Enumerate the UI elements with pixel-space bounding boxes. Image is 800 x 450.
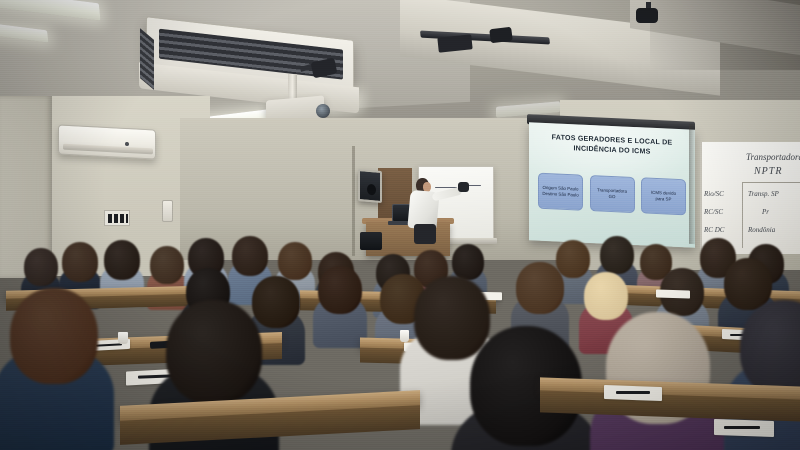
ceiling-corner-shadow [650,0,800,70]
ac-side-grille-icon [140,28,154,90]
slide-box-origem: Origem São Paulo Destino São Paulo [538,173,583,211]
whiteboard-row-3-value: Rondônia [748,226,775,234]
whiteboard-row-1-label: Rio/SC [704,190,724,198]
whiteboard-table-divider [742,182,743,248]
whiteboard-row-1-value: Transp. SP [748,190,779,198]
projection-screen: FATOS GERADORES E LOCAL DE INCIDÊNCIA DO… [529,122,695,248]
slide-box-icms: ICMS devido para SP [641,177,686,215]
monitor [360,232,382,250]
person-head [278,242,312,280]
pen [724,426,760,429]
whiteboard-row-3-label: RC DC [704,226,724,234]
light-switch[interactable] [162,200,173,222]
presenter-legs [414,224,436,244]
person-head [600,236,634,274]
whiteboard-subtitle: NPTR [754,166,782,177]
presenter-hand-with-eraser [458,182,469,192]
person-head [584,272,628,320]
person-head [10,288,98,384]
person-head [318,266,362,314]
person-head [556,240,590,278]
person-head [104,240,140,280]
person-head [166,300,262,404]
wall-corner-edge [352,146,355,256]
classroom-photo: FATOS GERADORES E LOCAL DE INCIDÊNCIA DO… [0,0,800,450]
whiteboard-row-2-value: Pr [762,208,769,216]
person-head [724,258,772,310]
slide-box-3-line-2: para SP [656,196,672,202]
ac-vent-slat-icon [63,144,153,155]
slide-box-1-line-2: Destino São Paulo [542,191,578,198]
track-light-head-icon [489,27,513,44]
slide-box-2-line-2: GO [609,194,616,199]
wall-sign [104,210,130,226]
speaker-cone-icon [367,184,376,196]
slide-box-transportadora: Transportadora GO [590,175,635,213]
slide-box-2-line-1: Transportadora [597,187,627,193]
person-head [452,244,484,280]
ceiling-spotlight-icon [636,8,658,23]
screen-right-edge [689,124,695,244]
person-head [516,262,564,314]
whiteboard-table-line [742,182,800,183]
paper-cup [400,330,409,342]
projector-lens-icon [316,104,330,118]
person-head [150,246,184,284]
wall-air-conditioner [58,124,156,159]
person-head [24,248,58,286]
whiteboard-row-2-label: RC/SC [704,208,723,216]
person-head [232,236,268,276]
paper-sheet [656,289,690,298]
whiteboard-title: Transportadora [746,152,800,162]
logo-icon [108,214,128,223]
person-head [62,242,98,282]
presenter [404,178,474,244]
wall-speaker [358,169,382,203]
slide-box-row: Origem São Paulo Destino São Paulo Trans… [538,173,686,216]
person-head [252,276,300,328]
paper-cup [118,332,128,344]
person-head [414,276,490,360]
pen [616,391,650,394]
ac-indicator-led-icon [125,142,129,146]
